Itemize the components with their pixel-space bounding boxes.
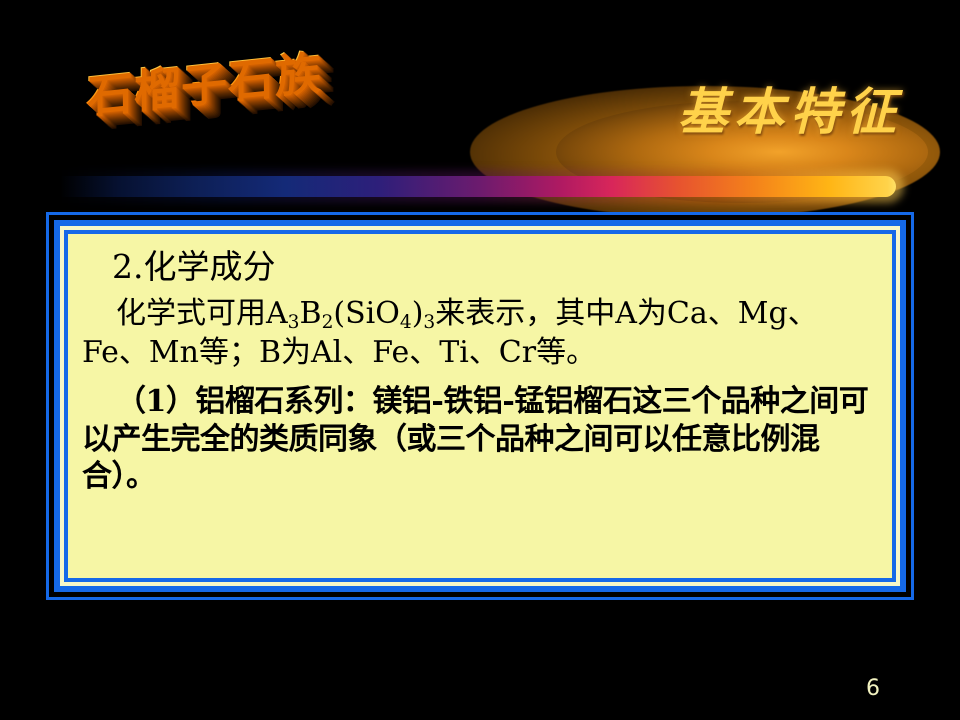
formula-sub-3: 4 xyxy=(400,312,412,333)
formula-sub-1: 3 xyxy=(288,312,300,333)
content-paragraph-formula: 化学式可用A3B2(SiO4)3来表示，其中A为Ca、Mg、Fe、Mn等；B为A… xyxy=(82,296,878,371)
formula-mid-2: (SiO xyxy=(333,296,399,331)
content-body: 2.化学成分 化学式可用A3B2(SiO4)3来表示，其中A为Ca、Mg、Fe、… xyxy=(68,234,892,578)
slide-canvas: 石榴子石族 基本特征 2.化学成分 化学式可用A3B2(SiO4)3来表示，其中… xyxy=(0,0,960,720)
content-paragraph-series: （1）铝榴石系列：镁铝-铁铝-锰铝榴石这三个品种之间可以产生完全的类质同象（或三… xyxy=(82,383,878,495)
slide-section-title: 基本特征 xyxy=(678,72,902,144)
formula-mid-1: B xyxy=(300,296,322,331)
gradient-bar-halo xyxy=(60,170,904,203)
formula-before: 化学式可用A xyxy=(116,296,288,331)
content-frame-inner: 2.化学成分 化学式可用A3B2(SiO4)3来表示，其中A为Ca、Mg、Fe、… xyxy=(64,230,896,582)
slide-logo-title: 石榴子石族 xyxy=(86,36,321,127)
formula-sub-4: 3 xyxy=(423,312,435,333)
formula-sub-2: 2 xyxy=(322,312,334,333)
content-heading: 2.化学成分 xyxy=(112,248,878,286)
content-frame-outer: 2.化学成分 化学式可用A3B2(SiO4)3来表示，其中A为Ca、Mg、Fe、… xyxy=(46,212,914,600)
gradient-bar xyxy=(60,176,896,197)
page-number: 6 xyxy=(866,676,880,701)
formula-mid-3: ) xyxy=(412,296,424,331)
slide-logo-title-text: 石榴子石族 xyxy=(86,45,321,124)
content-frame-middle: 2.化学成分 化学式可用A3B2(SiO4)3来表示，其中A为Ca、Mg、Fe、… xyxy=(54,220,906,592)
